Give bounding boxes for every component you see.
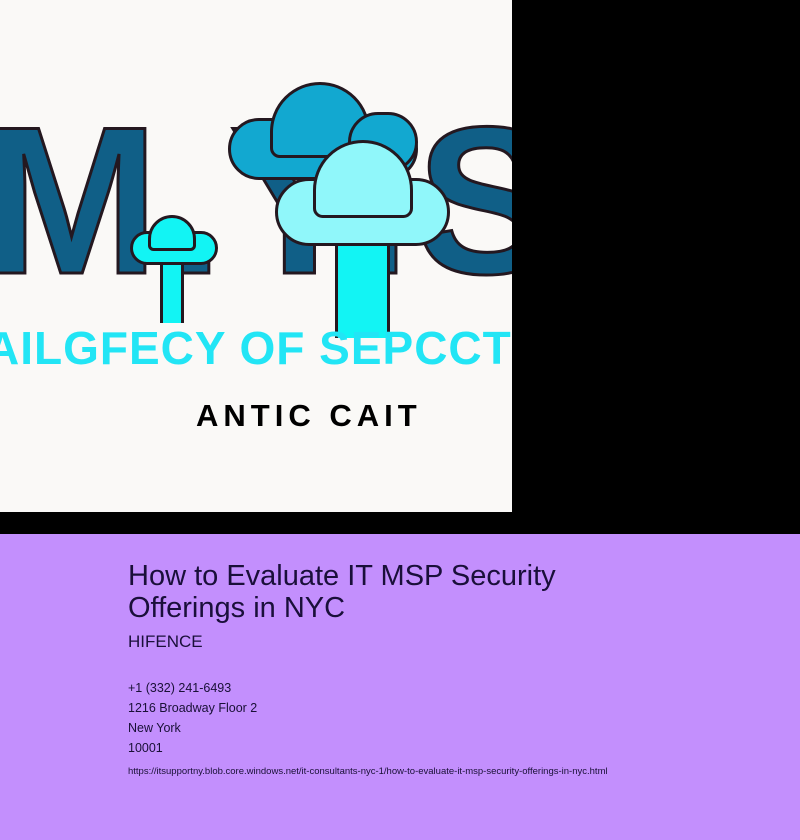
logo-artwork: M.Y.S AILGFECY OF SEPCCT ANTIC CAIT <box>0 0 512 512</box>
cloud-large-puff <box>313 140 413 218</box>
article-info-card: How to Evaluate IT MSP Security Offering… <box>0 534 800 840</box>
contact-phone[interactable]: +1 (332) 241-6493 <box>128 678 768 698</box>
cloud-small-icon <box>130 215 218 320</box>
page-title: How to Evaluate IT MSP Security Offering… <box>128 560 618 624</box>
contact-city: New York <box>128 718 768 738</box>
contact-street: 1216 Broadway Floor 2 <box>128 698 768 718</box>
contact-postal-code: 10001 <box>128 738 768 758</box>
logo-tagline-primary: AILGFECY OF SEPCCT <box>0 322 512 374</box>
brand-name: HIFENCE <box>128 632 768 652</box>
article-info-content: How to Evaluate IT MSP Security Offering… <box>128 560 768 778</box>
hero-banner-region: M.Y.S AILGFECY OF SEPCCT ANTIC CAIT <box>0 0 800 534</box>
page-root: M.Y.S AILGFECY OF SEPCCT ANTIC CAIT <box>0 0 800 840</box>
cloud-small-puff <box>148 215 196 251</box>
logo-tagline-secondary: ANTIC CAIT <box>196 398 422 434</box>
cloud-small-stem <box>160 261 184 323</box>
contact-block: +1 (332) 241-6493 1216 Broadway Floor 2 … <box>128 678 768 758</box>
source-url-link[interactable]: https://itsupportny.blob.core.windows.ne… <box>128 765 768 778</box>
cloud-large-icon <box>275 140 450 320</box>
